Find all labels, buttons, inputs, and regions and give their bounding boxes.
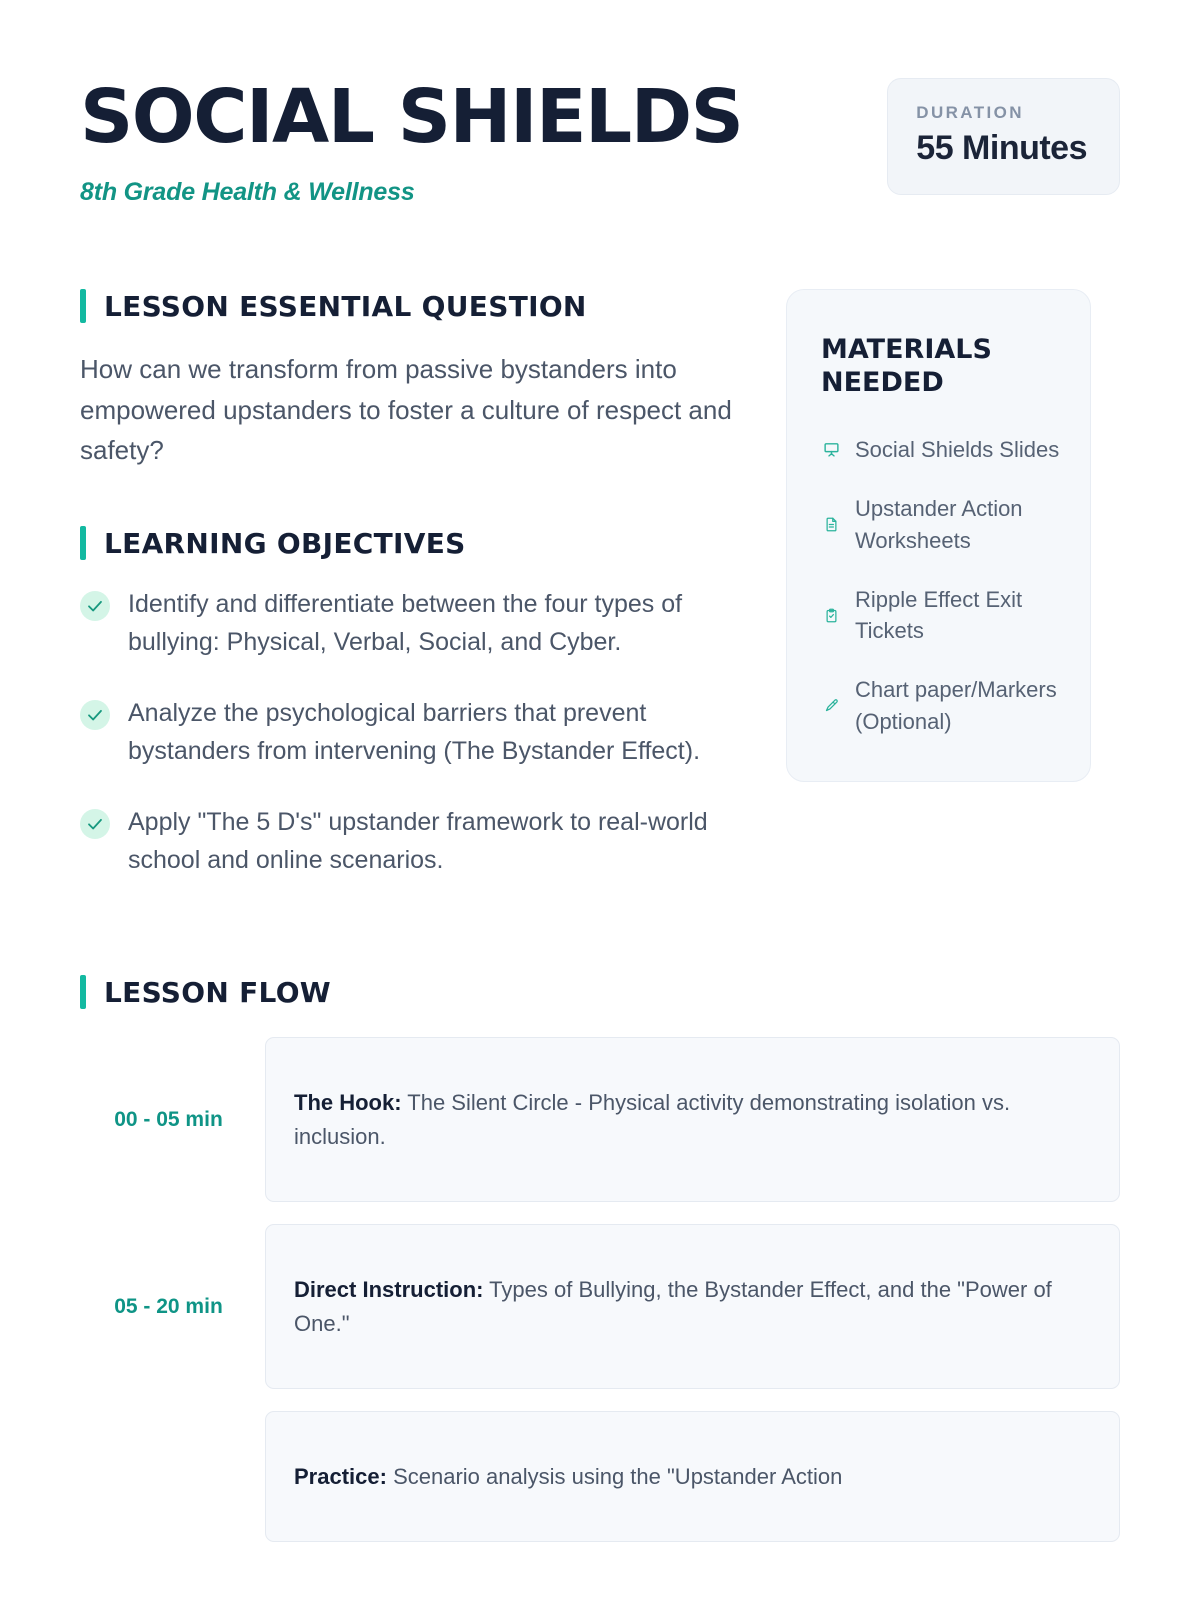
flow-activity-title: Practice: <box>294 1464 387 1489</box>
objective-text: Analyze the psychological barriers that … <box>128 695 740 770</box>
flow-time-label: 05 - 20 min <box>80 1295 265 1319</box>
material-label: Ripple Effect Exit Tickets <box>855 584 1060 646</box>
list-item: Identify and differentiate between the f… <box>80 586 740 661</box>
lesson-flow-rows: 00 - 05 min The Hook: The Silent Circle … <box>80 1037 1120 1542</box>
check-icon <box>80 591 110 621</box>
material-label: Social Shields Slides <box>855 434 1059 465</box>
check-icon <box>80 809 110 839</box>
list-item: Ripple Effect Exit Tickets <box>821 584 1060 646</box>
clipboard-check-icon <box>821 608 841 623</box>
essential-question-heading: LESSON ESSENTIAL QUESTION <box>80 289 740 323</box>
section-title: LESSON ESSENTIAL QUESTION <box>104 290 587 323</box>
objective-text: Identify and differentiate between the f… <box>128 586 740 661</box>
accent-bar <box>80 526 86 560</box>
list-item: Analyze the psychological barriers that … <box>80 695 740 770</box>
duration-value: 55 Minutes <box>916 129 1087 168</box>
duration-card: DURATION 55 Minutes <box>887 78 1120 195</box>
table-row: Practice: Scenario analysis using the "U… <box>80 1411 1120 1542</box>
lesson-flow-heading: LESSON FLOW <box>80 975 1120 1009</box>
side-column: MATERIALS NEEDED Social Shields Slides <box>786 289 1091 782</box>
materials-title: MATERIALS NEEDED <box>821 334 1060 400</box>
materials-list: Social Shields Slides Upstander Action W… <box>821 434 1060 737</box>
materials-card: MATERIALS NEEDED Social Shields Slides <box>786 289 1091 782</box>
material-label: Upstander Action Worksheets <box>855 493 1060 555</box>
presentation-icon <box>821 441 841 458</box>
objective-text: Apply "The 5 D's" upstander framework to… <box>128 804 740 879</box>
page-subtitle: 8th Grade Health & Wellness <box>80 178 742 207</box>
material-label: Chart paper/Markers (Optional) <box>855 674 1060 736</box>
flow-activity-card: The Hook: The Silent Circle - Physical a… <box>265 1037 1120 1202</box>
page-header: SOCIAL SHIELDS 8th Grade Health & Wellne… <box>80 78 1120 207</box>
lesson-plan-page: SOCIAL SHIELDS 8th Grade Health & Wellne… <box>0 0 1200 1600</box>
accent-bar <box>80 975 86 1009</box>
list-item: Chart paper/Markers (Optional) <box>821 674 1060 736</box>
section-title: LESSON FLOW <box>104 976 331 1009</box>
flow-activity-title: Direct Instruction: <box>294 1277 483 1302</box>
flow-activity-title: The Hook: <box>294 1090 402 1115</box>
flow-activity-card: Direct Instruction: Types of Bullying, t… <box>265 1224 1120 1389</box>
table-row: 00 - 05 min The Hook: The Silent Circle … <box>80 1037 1120 1202</box>
flow-time-label: 00 - 05 min <box>80 1108 265 1132</box>
document-icon <box>821 517 841 532</box>
main-column: LESSON ESSENTIAL QUESTION How can we tra… <box>80 289 740 879</box>
flow-activity-text: Practice: Scenario analysis using the "U… <box>294 1460 1091 1493</box>
list-item: Apply "The 5 D's" upstander framework to… <box>80 804 740 879</box>
essential-question-text: How can we transform from passive bystan… <box>80 349 740 470</box>
flow-activity-card: Practice: Scenario analysis using the "U… <box>265 1411 1120 1542</box>
list-item: Upstander Action Worksheets <box>821 493 1060 555</box>
table-row: 05 - 20 min Direct Instruction: Types of… <box>80 1224 1120 1389</box>
flow-activity-text: The Hook: The Silent Circle - Physical a… <box>294 1086 1091 1153</box>
flow-activity-detail: Scenario analysis using the "Upstander A… <box>387 1464 842 1489</box>
marker-pen-icon <box>821 698 841 713</box>
duration-label: DURATION <box>916 103 1087 123</box>
accent-bar <box>80 289 86 323</box>
learning-objectives-heading: LEARNING OBJECTIVES <box>80 526 740 560</box>
flow-activity-text: Direct Instruction: Types of Bullying, t… <box>294 1273 1091 1340</box>
objectives-list: Identify and differentiate between the f… <box>80 586 740 879</box>
header-title-block: SOCIAL SHIELDS 8th Grade Health & Wellne… <box>80 78 742 207</box>
list-item: Social Shields Slides <box>821 434 1060 465</box>
content-columns: LESSON ESSENTIAL QUESTION How can we tra… <box>80 289 1120 879</box>
check-icon <box>80 700 110 730</box>
page-title: SOCIAL SHIELDS <box>80 82 742 152</box>
lesson-flow-section: LESSON FLOW 00 - 05 min The Hook: The Si… <box>80 975 1120 1542</box>
section-title: LEARNING OBJECTIVES <box>104 527 466 560</box>
flow-activity-detail: The Silent Circle - Physical activity de… <box>294 1090 1010 1148</box>
